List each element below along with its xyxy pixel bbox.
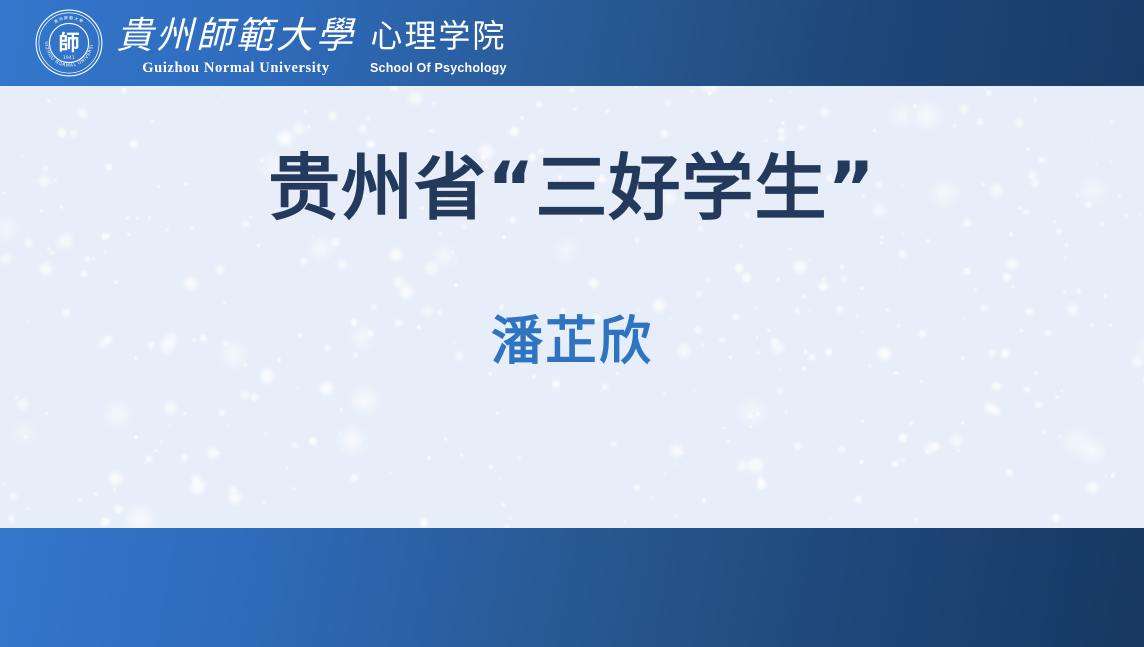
slide-subtitle-author: 潘芷欣 <box>0 310 1144 374</box>
svg-text:師: 師 <box>59 30 80 55</box>
slide-title: 贵州省“三好学生” <box>0 146 1144 230</box>
header-content: GUIZHOU NORMAL UNIVERSITY 貴州師範大學 師 1941 … <box>34 0 507 86</box>
department-name-en: School Of Psychology <box>370 60 507 76</box>
footer-band <box>0 528 1144 647</box>
department-name-block: 心理学院 School Of Psychology <box>370 14 507 76</box>
university-seal-icon: GUIZHOU NORMAL UNIVERSITY 貴州師範大學 師 1941 <box>34 8 104 78</box>
svg-text:1941: 1941 <box>63 55 75 60</box>
header-wordmarks: 貴州師範大學 Guizhou Normal University 心理学院 Sc… <box>116 10 507 77</box>
university-name-cn: 貴州師範大學 <box>116 14 356 58</box>
university-name-en: Guizhou Normal University <box>142 59 329 77</box>
university-name-block: 貴州師範大學 Guizhou Normal University <box>116 14 356 77</box>
header-band: GUIZHOU NORMAL UNIVERSITY 貴州師範大學 師 1941 … <box>0 0 1144 86</box>
presentation-slide: GUIZHOU NORMAL UNIVERSITY 貴州師範大學 師 1941 … <box>0 0 1144 647</box>
department-name-cn: 心理学院 <box>370 15 506 57</box>
